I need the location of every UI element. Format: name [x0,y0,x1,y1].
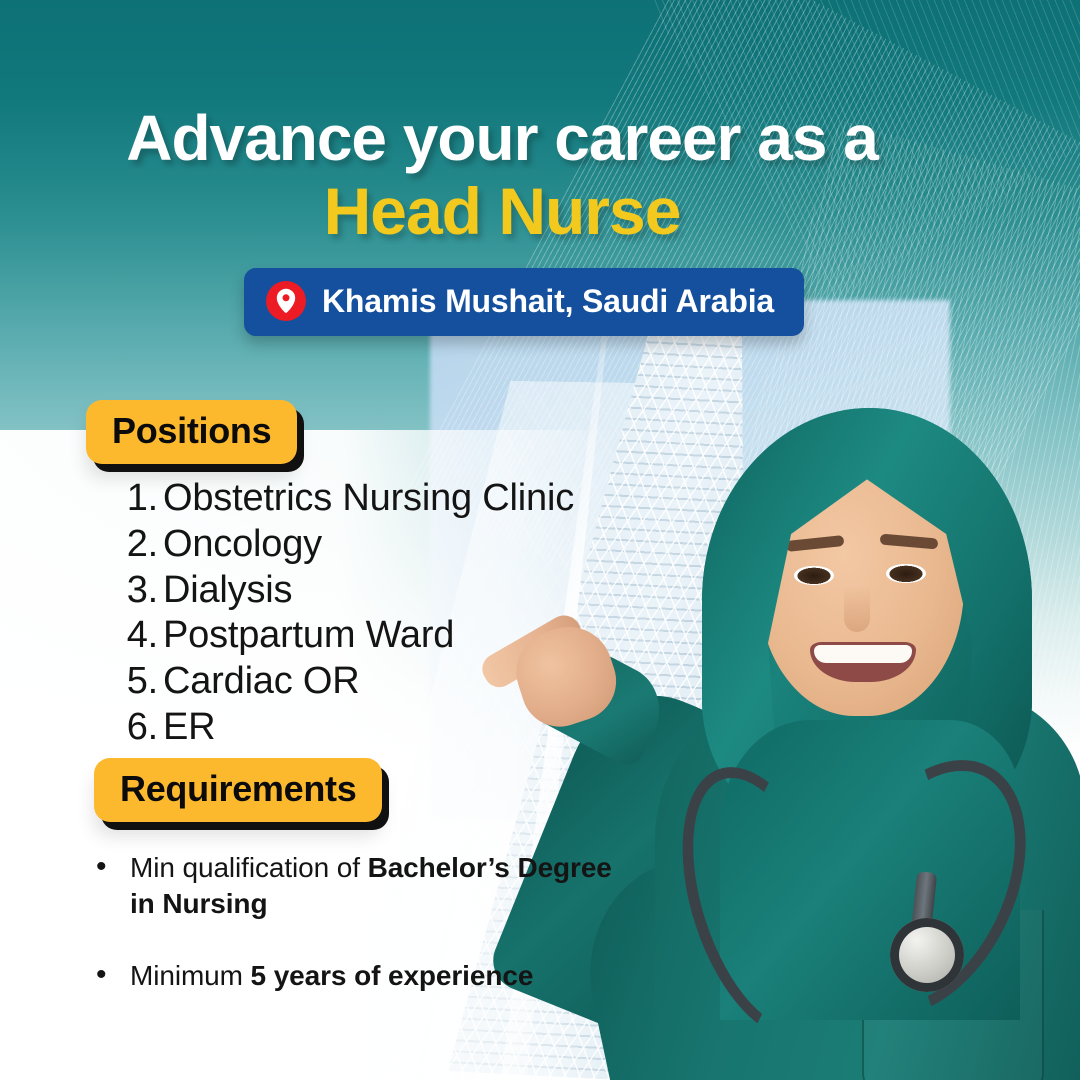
list-item: 5. Cardiac OR [100,661,620,703]
list-item: 1. Obstetrics Nursing Clinic [100,478,620,520]
headline-line-1: Advance your career as a [0,106,1004,170]
position-number: 5. [100,661,163,703]
position-label: Obstetrics Nursing Clinic [163,478,620,520]
position-number: 3. [100,570,163,612]
bullet-icon: • [96,850,130,885]
position-label: Oncology [163,524,620,566]
position-number: 4. [100,615,163,657]
list-item: • Minimum 5 years of experience [96,958,616,994]
position-number: 6. [100,707,163,749]
requirement-text: Min qualification of Bachelor’s Degree i… [130,850,616,922]
position-number: 2. [100,524,163,566]
poster-content: Advance your career as a Head Nurse Kham… [0,0,1080,1080]
headline-line-2-role: Head Nurse [0,178,1004,244]
list-item: 3. Dialysis [100,570,620,612]
location-text: Khamis Mushait, Saudi Arabia [322,283,774,320]
positions-section-tag: Positions [86,400,297,464]
position-label: Cardiac OR [163,661,620,703]
requirement-plain: Min qualification of [130,852,368,883]
list-item: 4. Postpartum Ward [100,615,620,657]
list-item: 2. Oncology [100,524,620,566]
location-badge: Khamis Mushait, Saudi Arabia [244,268,804,336]
requirements-list: • Min qualification of Bachelor’s Degree… [96,850,616,1029]
position-number: 1. [100,478,163,520]
list-item: • Min qualification of Bachelor’s Degree… [96,850,616,922]
position-label: Postpartum Ward [163,615,620,657]
list-item: 6. ER [100,707,620,749]
position-label: Dialysis [163,570,620,612]
position-label: ER [163,707,620,749]
requirement-plain: Minimum [130,960,251,991]
bullet-icon: • [96,958,130,993]
positions-list: 1. Obstetrics Nursing Clinic 2. Oncology… [100,478,620,753]
requirements-section-tag: Requirements [94,758,382,822]
requirement-text: Minimum 5 years of experience [130,958,616,994]
requirement-emphasis: 5 years of experience [251,960,534,991]
map-pin-icon [266,281,306,321]
job-poster: Advance your career as a Head Nurse Kham… [0,0,1080,1080]
